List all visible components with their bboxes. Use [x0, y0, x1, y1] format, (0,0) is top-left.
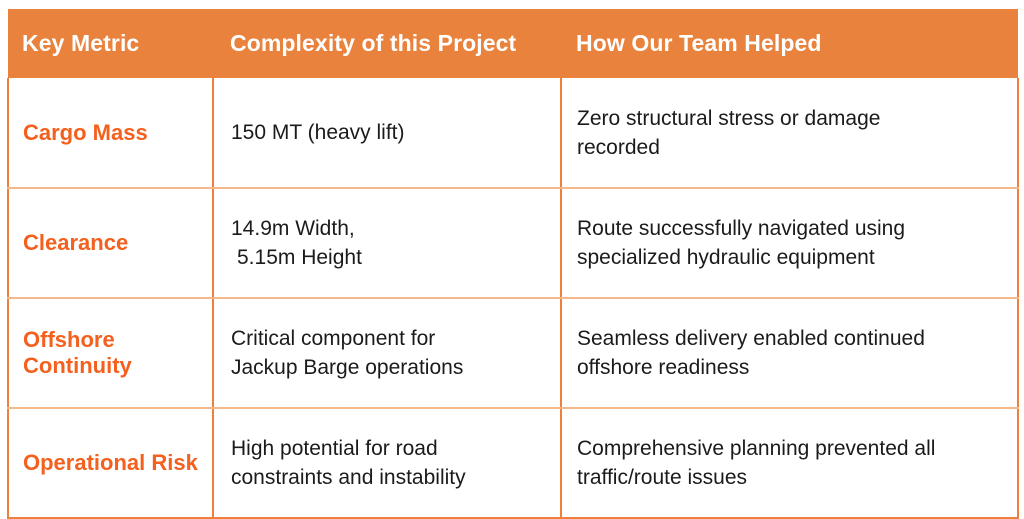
cell-key-metric: Clearance [8, 188, 213, 298]
table-row: Operational Risk High potential for road… [8, 408, 1018, 518]
cell-team-helped-line-2: offshore readiness [577, 353, 1007, 382]
cell-team-helped-line-2: specialized hydraulic equipment [577, 243, 1007, 272]
metrics-table-container: Key Metric Complexity of this Project Ho… [7, 9, 1017, 509]
table-row: Offshore Continuity Critical component f… [8, 298, 1018, 408]
cell-key-metric: Offshore Continuity [8, 298, 213, 408]
cell-key-metric: Operational Risk [8, 408, 213, 518]
cell-team-helped: Route successfully navigated using speci… [561, 188, 1018, 298]
cell-complexity-line-2: 5.15m Height [231, 243, 550, 272]
cell-complexity-line-2: constraints and instability [231, 463, 550, 492]
cell-complexity-line-2: Jackup Barge operations [231, 353, 550, 382]
cell-team-helped-line-2: traffic/route issues [577, 463, 1007, 492]
column-header-complexity: Complexity of this Project [213, 9, 561, 78]
cell-team-helped: Comprehensive planning prevented all tra… [561, 408, 1018, 518]
cell-team-helped-line-1: Seamless delivery enabled continued [577, 324, 1007, 353]
cell-complexity-line-1: 150 MT (heavy lift) [231, 118, 550, 147]
cell-team-helped: Seamless delivery enabled continued offs… [561, 298, 1018, 408]
cell-complexity: Critical component for Jackup Barge oper… [213, 298, 561, 408]
cell-complexity-line-1: 14.9m Width, [231, 214, 550, 243]
cell-complexity-line-1: High potential for road [231, 434, 550, 463]
cell-complexity: 150 MT (heavy lift) [213, 78, 561, 188]
cell-team-helped-line-2: recorded [577, 133, 1007, 162]
table-header-row: Key Metric Complexity of this Project Ho… [8, 9, 1018, 78]
cell-complexity: 14.9m Width, 5.15m Height [213, 188, 561, 298]
project-metrics-table: Key Metric Complexity of this Project Ho… [7, 9, 1019, 519]
cell-team-helped-line-1: Comprehensive planning prevented all [577, 434, 1007, 463]
column-header-key-metric: Key Metric [8, 9, 213, 78]
cell-team-helped: Zero structural stress or damage recorde… [561, 78, 1018, 188]
cell-team-helped-line-1: Route successfully navigated using [577, 214, 1007, 243]
column-header-team-helped: How Our Team Helped [561, 9, 1018, 78]
cell-complexity-line-1: Critical component for [231, 324, 550, 353]
cell-complexity: High potential for road constraints and … [213, 408, 561, 518]
cell-key-metric: Cargo Mass [8, 78, 213, 188]
table-row: Clearance 14.9m Width, 5.15m Height Rout… [8, 188, 1018, 298]
table-header: Key Metric Complexity of this Project Ho… [8, 9, 1018, 78]
table-row: Cargo Mass 150 MT (heavy lift) Zero stru… [8, 78, 1018, 188]
cell-team-helped-line-1: Zero structural stress or damage [577, 104, 1007, 133]
table-body: Cargo Mass 150 MT (heavy lift) Zero stru… [8, 78, 1018, 518]
